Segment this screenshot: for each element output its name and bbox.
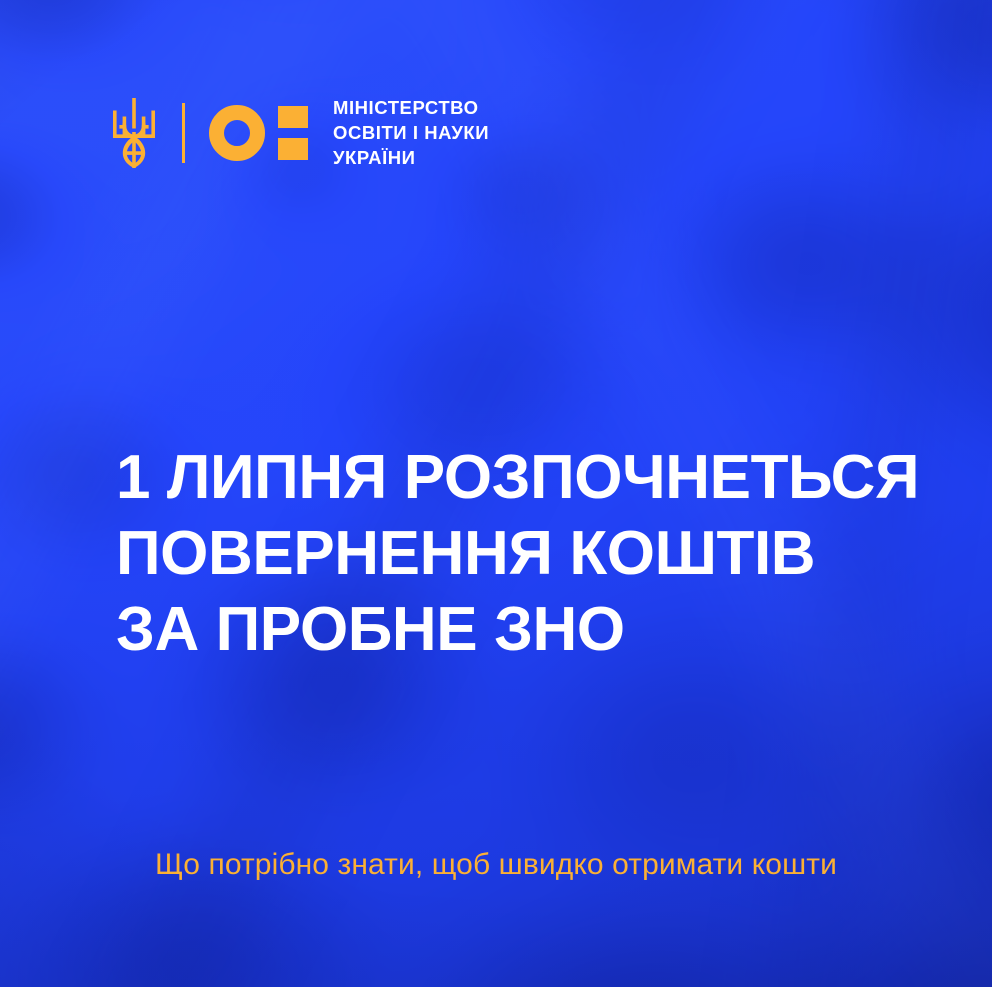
headline-line-2: ПОВЕРНЕННЯ КОШТІВ [116, 516, 936, 592]
announcement-card: МІНІСТЕРСТВО ОСВІТИ І НАУКИ УКРАЇНИ 1 ЛИ… [0, 0, 992, 987]
subtitle: Що потрібно знати, щоб швидко отримати к… [0, 848, 992, 882]
ukraine-trident-icon [112, 98, 156, 168]
ministry-name-line-1: МІНІСТЕРСТВО [333, 96, 489, 121]
ministry-logo-lockup: МІНІСТЕРСТВО ОСВІТИ І НАУКИ УКРАЇНИ [112, 96, 489, 170]
ministry-name-line-3: УКРАЇНИ [333, 146, 489, 171]
headline-line-1: 1 ЛИПНЯ РОЗПОЧНЕТЬСЯ [116, 440, 936, 516]
mon-ring-icon [209, 105, 265, 161]
mon-bar-bottom [278, 138, 308, 160]
mon-bar-top [278, 106, 308, 128]
mon-o-mark-icon [209, 105, 308, 161]
logo-divider [182, 103, 185, 163]
ministry-name-line-2: ОСВІТИ І НАУКИ [333, 121, 489, 146]
mon-bars-icon [278, 106, 308, 160]
headline-line-3: ЗА ПРОБНЕ ЗНО [116, 592, 936, 668]
ministry-name: МІНІСТЕРСТВО ОСВІТИ І НАУКИ УКРАЇНИ [333, 96, 489, 170]
page-title: 1 ЛИПНЯ РОЗПОЧНЕТЬСЯ ПОВЕРНЕННЯ КОШТІВ З… [116, 440, 936, 668]
